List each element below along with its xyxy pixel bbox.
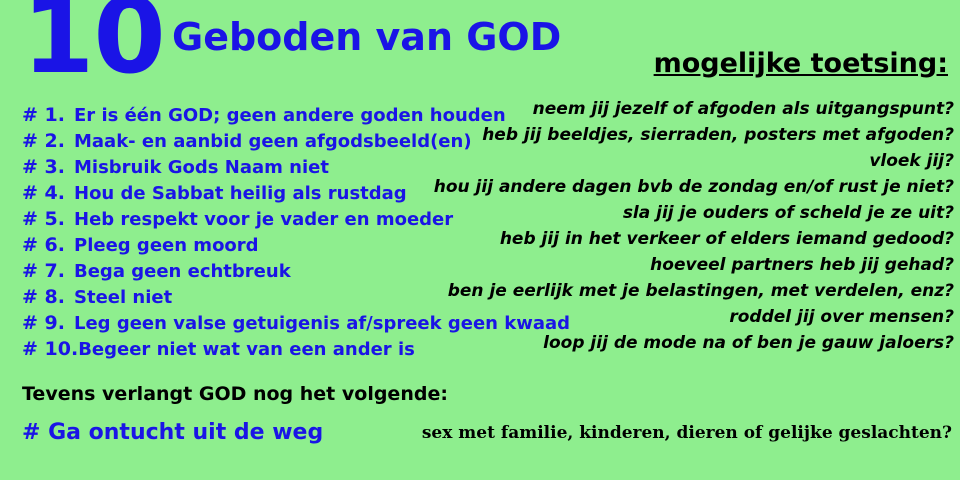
commandment-text: Leg geen valse getuigenis af/spreek geen… — [74, 313, 570, 334]
commandment-text: Pleeg geen moord — [74, 235, 259, 256]
commandment-number: # 8. — [22, 286, 74, 308]
commandment-number: # 9. — [22, 312, 74, 334]
poster-canvas: 10 Geboden van GOD mogelijke toetsing: #… — [0, 0, 960, 480]
commandment-left: # 10.Begeer niet wat van een ander is — [22, 338, 415, 361]
commandment-number: # 4. — [22, 182, 74, 204]
commandment-row: # 2.Maak- en aanbid geen afgodsbeeld(en)… — [0, 130, 960, 156]
commandment-question: vloek jij? — [869, 150, 954, 172]
commandment-text: Bega geen echtbreuk — [74, 261, 291, 282]
commandment-question: sla jij je ouders of scheld je ze uit? — [623, 202, 954, 224]
commandment-question: neem jij jezelf of afgoden als uitgangsp… — [533, 98, 954, 120]
commandment-question: roddel jij over mensen? — [729, 306, 954, 328]
commandment-text: Begeer niet wat van een ander is — [78, 339, 415, 360]
big-number-ten: 10 — [22, 0, 165, 88]
footer-note: Tevens verlangt GOD nog het volgende: — [22, 385, 448, 404]
commandment-number: # 3. — [22, 156, 74, 178]
commandment-left: # 4.Hou de Sabbat heilig als rustdag — [22, 182, 407, 205]
commandment-question: heb jij beeldjes, sierraden, posters met… — [482, 124, 954, 146]
footer-extra-rule: # Ga ontucht uit de weg — [22, 422, 323, 444]
commandment-text: Hou de Sabbat heilig als rustdag — [74, 183, 407, 204]
commandment-question: ben je eerlijk met je belastingen, met v… — [448, 280, 954, 302]
page-title: Geboden van GOD — [172, 18, 561, 56]
commandment-text: Heb respekt voor je vader en moeder — [74, 209, 453, 230]
commandment-left: # 3.Misbruik Gods Naam niet — [22, 156, 329, 179]
commandments-list: # 1.Er is één GOD; geen andere goden hou… — [0, 104, 960, 364]
commandment-number: # 2. — [22, 130, 74, 152]
commandment-text: Misbruik Gods Naam niet — [74, 157, 329, 178]
commandment-left: # 7.Bega geen echtbreuk — [22, 260, 291, 283]
commandment-left: # 5.Heb respekt voor je vader en moeder — [22, 208, 453, 231]
commandment-question: hoeveel partners heb jij gehad? — [650, 254, 954, 276]
commandment-text: Er is één GOD; geen andere goden houden — [74, 105, 506, 126]
commandment-text: Maak- en aanbid geen afgodsbeeld(en) — [74, 131, 472, 152]
commandment-question: hou jij andere dagen bvb de zondag en/of… — [434, 176, 954, 198]
commandment-left: # 1.Er is één GOD; geen andere goden hou… — [22, 104, 506, 127]
commandment-left: # 8.Steel niet — [22, 286, 172, 309]
footer-extra-question: sex met familie, kinderen, dieren of gel… — [422, 425, 952, 442]
commandment-left: # 9.Leg geen valse getuigenis af/spreek … — [22, 312, 570, 335]
commandment-question: heb jij in het verkeer of elders iemand … — [500, 228, 954, 250]
right-column-heading: mogelijke toetsing: — [654, 50, 948, 77]
commandment-row: # 10.Begeer niet wat van een ander is lo… — [0, 338, 960, 364]
commandment-left: # 6.Pleeg geen moord — [22, 234, 259, 257]
commandment-text: Steel niet — [74, 287, 172, 308]
commandment-number: # 7. — [22, 260, 74, 282]
commandment-number: # 5. — [22, 208, 74, 230]
commandment-left: # 2.Maak- en aanbid geen afgodsbeeld(en) — [22, 130, 472, 153]
commandment-number: # 10. — [22, 338, 78, 360]
commandment-question: loop jij de mode na of ben je gauw jaloe… — [543, 332, 954, 354]
commandment-number: # 1. — [22, 104, 74, 126]
commandment-number: # 6. — [22, 234, 74, 256]
